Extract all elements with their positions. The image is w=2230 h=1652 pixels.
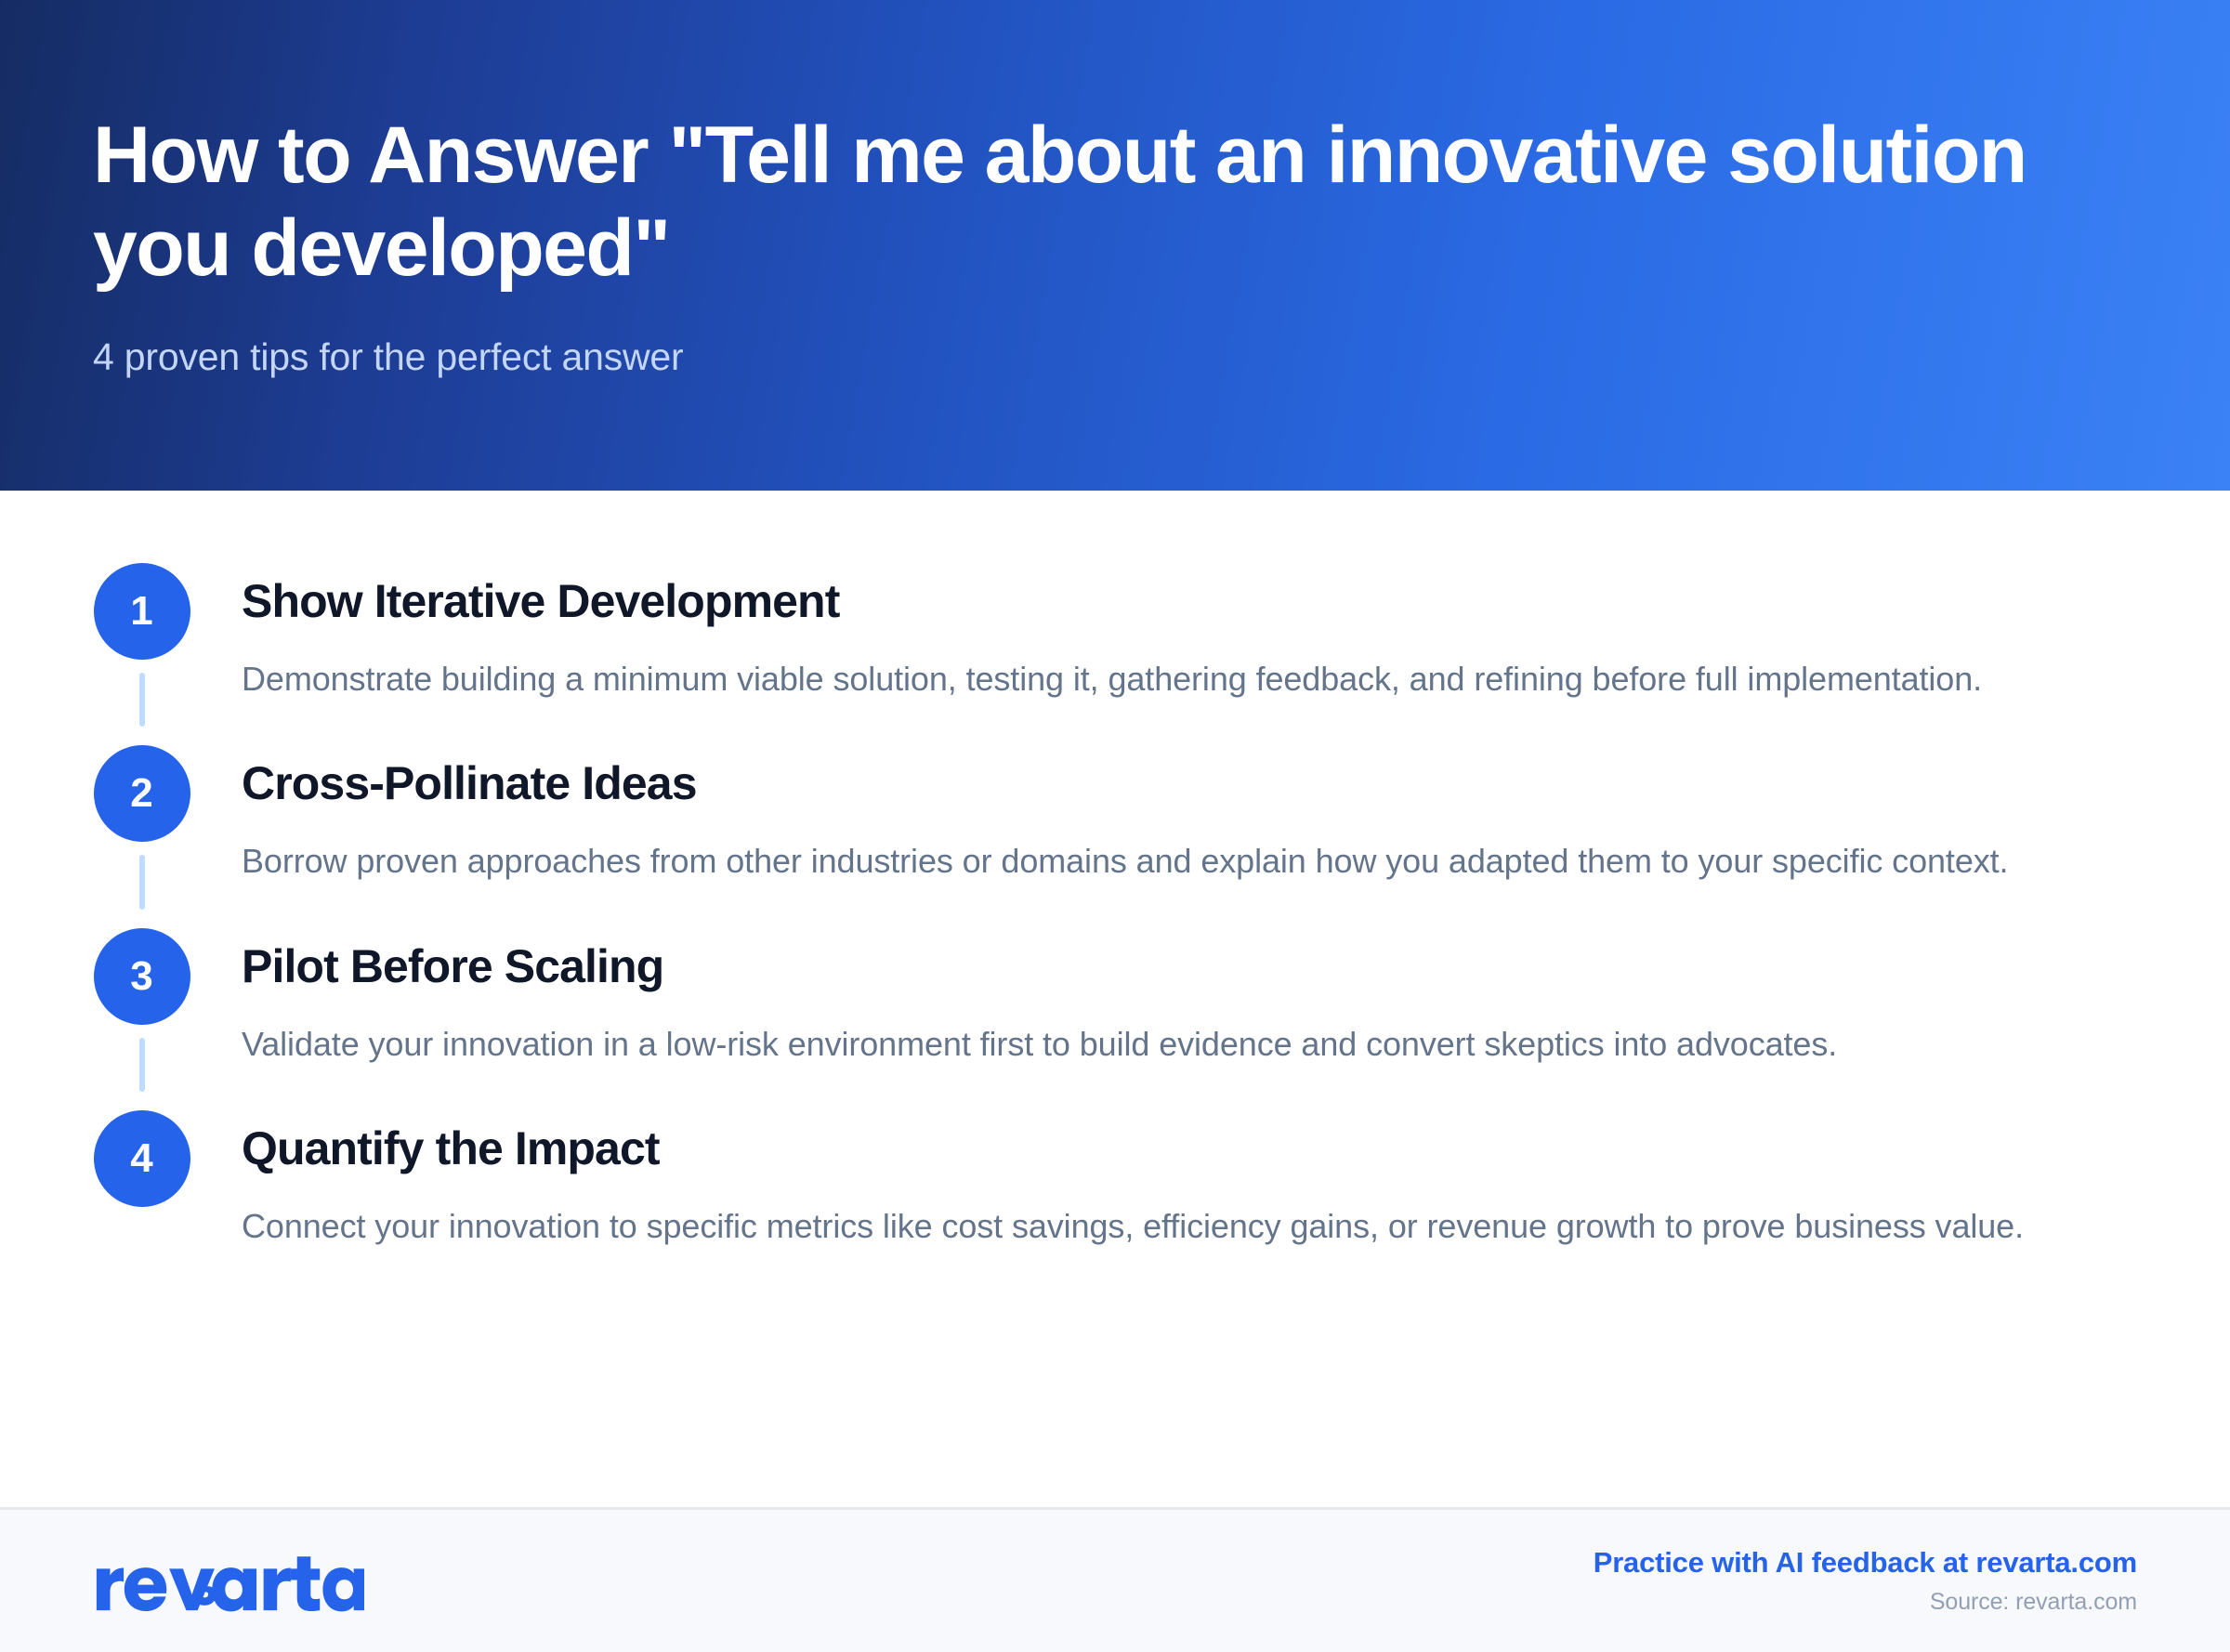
tip-number-badge: 4 [94,1110,190,1207]
tips-section: 1 Show Iterative Development Demonstrate… [0,491,2230,1507]
tip-number-badge: 3 [94,928,190,1025]
timeline-connector [139,1038,145,1092]
timeline-connector [139,855,145,909]
header-banner: How to Answer "Tell me about an innovati… [0,0,2230,491]
tip-body: Pilot Before Scaling Validate your innov… [190,928,2128,1071]
tip-number-badge: 2 [94,745,190,842]
tip-rail: 1 [93,563,190,706]
list-item: 3 Pilot Before Scaling Validate your inn… [93,928,2137,1110]
footer-cta-link[interactable]: Practice with AI feedback at revarta.com [1594,1546,2137,1580]
page-title: How to Answer "Tell me about an innovati… [93,110,2091,295]
tip-body: Quantify the Impact Connect your innovat… [190,1110,2128,1253]
tip-rail: 3 [93,928,190,1071]
list-item: 4 Quantify the Impact Connect your innov… [93,1110,2137,1253]
page-subtitle: 4 proven tips for the perfect answer [93,333,2091,382]
footer-right-block: Practice with AI feedback at revarta.com… [1594,1546,2137,1616]
tip-title: Pilot Before Scaling [242,939,2128,994]
tips-list: 1 Show Iterative Development Demonstrate… [93,563,2137,1253]
tip-rail: 2 [93,745,190,888]
tip-title: Cross-Pollinate Ideas [242,756,2128,811]
tip-description: Borrow proven approaches from other indu… [242,834,2128,888]
timeline-connector [139,673,145,727]
infographic-card: How to Answer "Tell me about an innovati… [0,0,2230,1652]
tip-title: Quantify the Impact [242,1121,2128,1176]
list-item: 1 Show Iterative Development Demonstrate… [93,563,2137,745]
revarta-logo[interactable] [93,1549,364,1614]
footer-source-text: Source: revarta.com [1930,1589,2137,1616]
tip-description: Connect your innovation to specific metr… [242,1200,2128,1253]
list-item: 2 Cross-Pollinate Ideas Borrow proven ap… [93,745,2137,927]
tip-rail: 4 [93,1110,190,1253]
tip-body: Cross-Pollinate Ideas Borrow proven appr… [190,745,2128,888]
tip-description: Validate your innovation in a low-risk e… [242,1017,2128,1071]
tip-body: Show Iterative Development Demonstrate b… [190,563,2128,706]
tip-title: Show Iterative Development [242,574,2128,629]
tip-description: Demonstrate building a minimum viable so… [242,652,2128,706]
footer-bar: Practice with AI feedback at revarta.com… [0,1507,2230,1652]
tip-number-badge: 1 [94,563,190,660]
